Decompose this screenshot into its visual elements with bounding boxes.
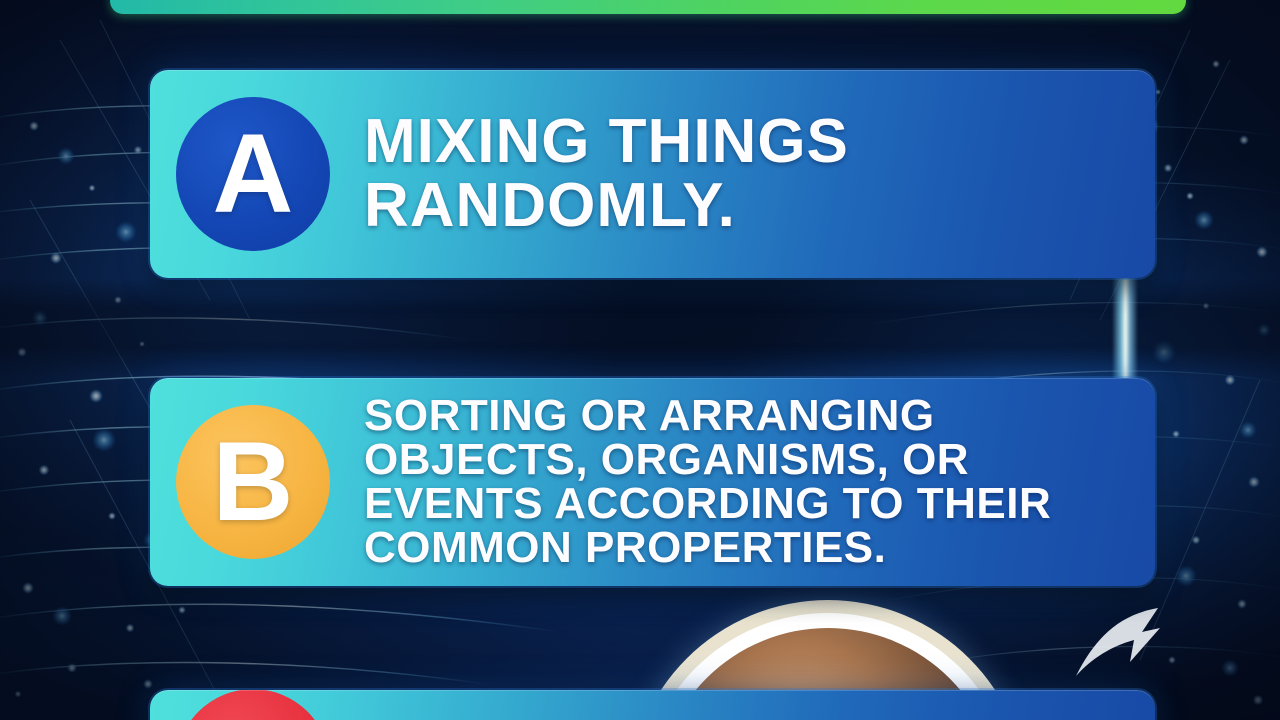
option-letter-b: B: [176, 405, 330, 559]
card-gap-divider: [0, 278, 1280, 378]
light-flare: [1112, 278, 1138, 382]
swoosh-arrow-icon: [1072, 606, 1164, 684]
option-card-c[interactable]: C: [150, 690, 1155, 720]
option-card-a[interactable]: A MIXING THINGS RANDOMLY.: [150, 70, 1155, 278]
option-letter-a: A: [176, 97, 330, 251]
option-letter-c: C: [176, 690, 330, 720]
quiz-slide: A MIXING THINGS RANDOMLY. B SORTING OR A…: [0, 0, 1280, 720]
option-text-a: MIXING THINGS RANDOMLY.: [364, 110, 1129, 239]
option-text-b: SORTING OR ARRANGING OBJECTS, ORGANISMS,…: [364, 394, 1129, 570]
top-progress-bar: [110, 0, 1186, 14]
option-card-b[interactable]: B SORTING OR ARRANGING OBJECTS, ORGANISM…: [150, 378, 1155, 586]
